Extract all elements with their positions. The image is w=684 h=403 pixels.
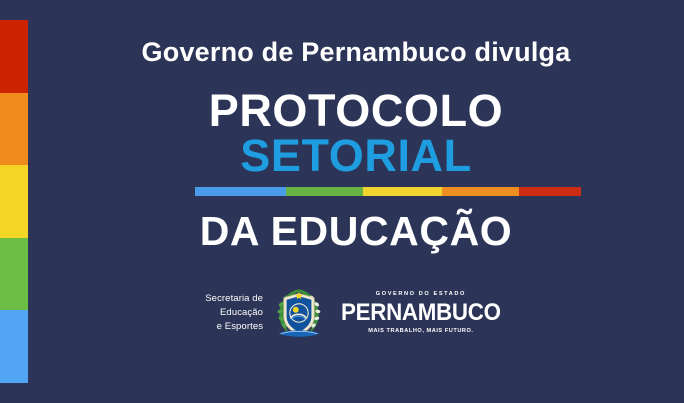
page-title-line-setorial: SETORIAL <box>28 133 684 178</box>
secretariat-label: Secretaria de Educação e Esportes <box>205 292 263 333</box>
pernambuco-wordmark: GOVERNO DO ESTADO PERNAMBUCO MAIS TRABAL… <box>335 292 507 334</box>
page-title-line-protocolo: PROTOCOLO <box>28 88 684 133</box>
wordmark-supra-line: GOVERNO DO ESTADO <box>376 292 466 298</box>
side-strip-segment-orange <box>0 93 28 165</box>
side-strip-segment-green <box>0 238 28 310</box>
divider-segment-green <box>286 187 363 196</box>
page-title-line-educacao: DA EDUCAÇÃO <box>28 210 684 253</box>
side-strip-segment-red <box>0 20 28 93</box>
wordmark-tagline: MAIS TRABALHO, MAIS FUTURO. <box>368 329 473 335</box>
side-strip-segment-blue <box>0 310 28 383</box>
poster-canvas: Governo de Pernambuco divulga PROTOCOLO … <box>0 0 684 403</box>
wordmark-state-name: PERNAMBUCO <box>341 301 501 325</box>
rainbow-divider <box>195 187 581 196</box>
divider-segment-yellow <box>363 187 442 196</box>
pernambuco-coat-of-arms-icon <box>272 286 326 340</box>
kicker-text: Governo de Pernambuco divulga <box>28 38 684 66</box>
side-color-strip <box>0 20 28 383</box>
divider-segment-blue <box>195 187 286 196</box>
logo-lockup: Secretaria de Educação e Esportes <box>28 286 684 340</box>
headline-block: Governo de Pernambuco divulga PROTOCOLO … <box>28 0 684 403</box>
side-strip-segment-yellow <box>0 165 28 238</box>
divider-segment-orange <box>442 187 519 196</box>
divider-segment-red <box>519 187 581 196</box>
